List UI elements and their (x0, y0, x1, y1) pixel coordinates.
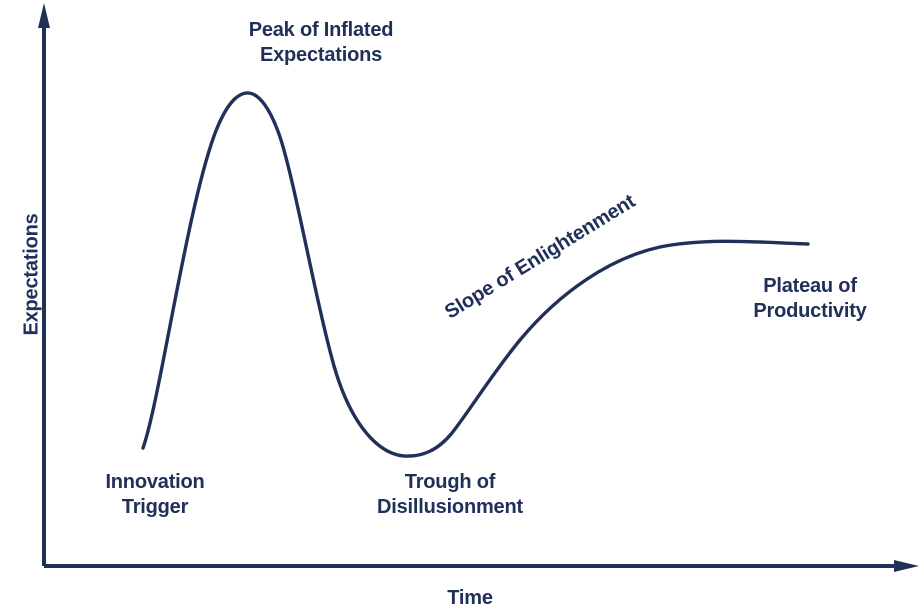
label-innovation-trigger: Innovation Trigger (60, 470, 250, 520)
x-axis-title: Time (400, 586, 540, 611)
x-axis-arrow-icon (894, 560, 919, 572)
label-peak-of-inflated-expectations: Peak of Inflated Expectations (186, 18, 456, 68)
hype-cycle-curve (143, 93, 808, 456)
label-trough-of-disillusionment: Trough of Disillusionment (330, 470, 570, 520)
x-axis (44, 560, 919, 572)
y-axis-title: Expectations (20, 195, 45, 355)
hype-cycle-chart: Peak of Inflated Expectations Innovation… (0, 0, 922, 614)
label-plateau-of-productivity: Plateau of Productivity (710, 274, 910, 324)
y-axis-arrow-icon (38, 3, 50, 28)
